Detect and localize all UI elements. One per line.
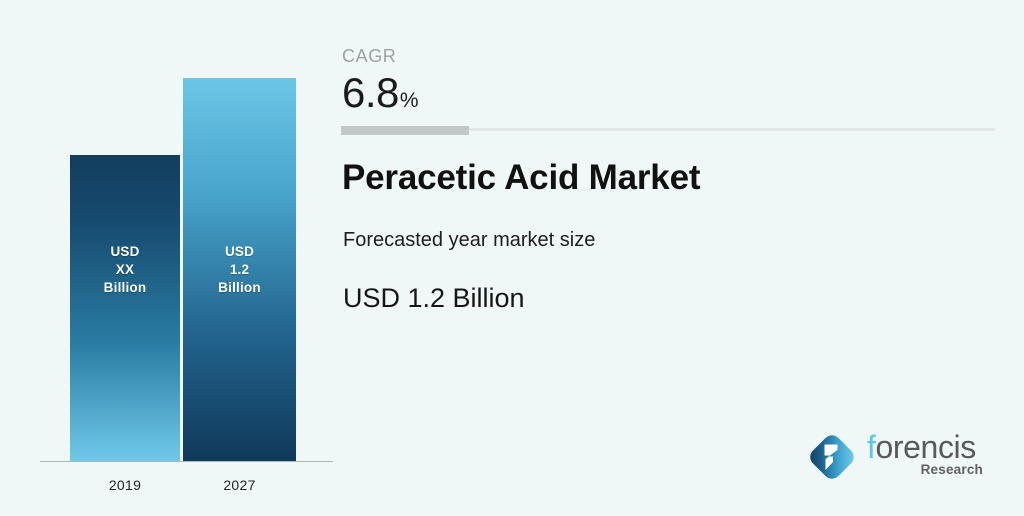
bar-2019-scale: Billion <box>70 279 180 297</box>
bar-2019-amount: XX <box>70 261 180 279</box>
section-divider <box>341 128 995 131</box>
forencis-word-rest: orencis <box>876 429 976 465</box>
forecast-caption: Forecasted year market size <box>343 229 595 252</box>
forencis-wordmark: forencis Research <box>867 430 983 477</box>
forencis-research-logo: forencis Research <box>803 424 983 492</box>
bar-2027-scale: Billion <box>183 279 296 297</box>
cagr-unit: % <box>400 90 419 111</box>
x-axis-tick-2019: 2019 <box>70 477 180 493</box>
forencis-word: forencis <box>867 430 983 464</box>
chart-baseline-axis <box>40 461 333 462</box>
bar-2027-amount: 1.2 <box>183 261 296 279</box>
x-axis-tick-2027: 2027 <box>183 477 296 493</box>
bar-chart-panel: USD XX Billion USD 1.2 Billion 2019 2027 <box>0 0 340 516</box>
bar-2019-currency: USD <box>70 243 180 261</box>
bar-2019-label: USD XX Billion <box>70 243 180 297</box>
cagr-value: 6.8 <box>342 71 399 115</box>
forecast-value: USD 1.2 Billion <box>343 283 525 314</box>
forencis-word-accent-letter: f <box>867 429 876 465</box>
bar-2027-currency: USD <box>183 243 296 261</box>
cagr-value-row: 6.8 % <box>342 71 419 115</box>
bar-2019[interactable]: USD XX Billion <box>70 155 180 461</box>
bar-2027[interactable]: USD 1.2 Billion <box>183 78 296 461</box>
section-divider-accent <box>341 126 469 135</box>
cagr-label: CAGR <box>342 46 396 67</box>
bar-2027-label: USD 1.2 Billion <box>183 243 296 297</box>
page-title: Peracetic Acid Market <box>342 158 700 198</box>
forencis-diamond-icon <box>803 428 861 486</box>
